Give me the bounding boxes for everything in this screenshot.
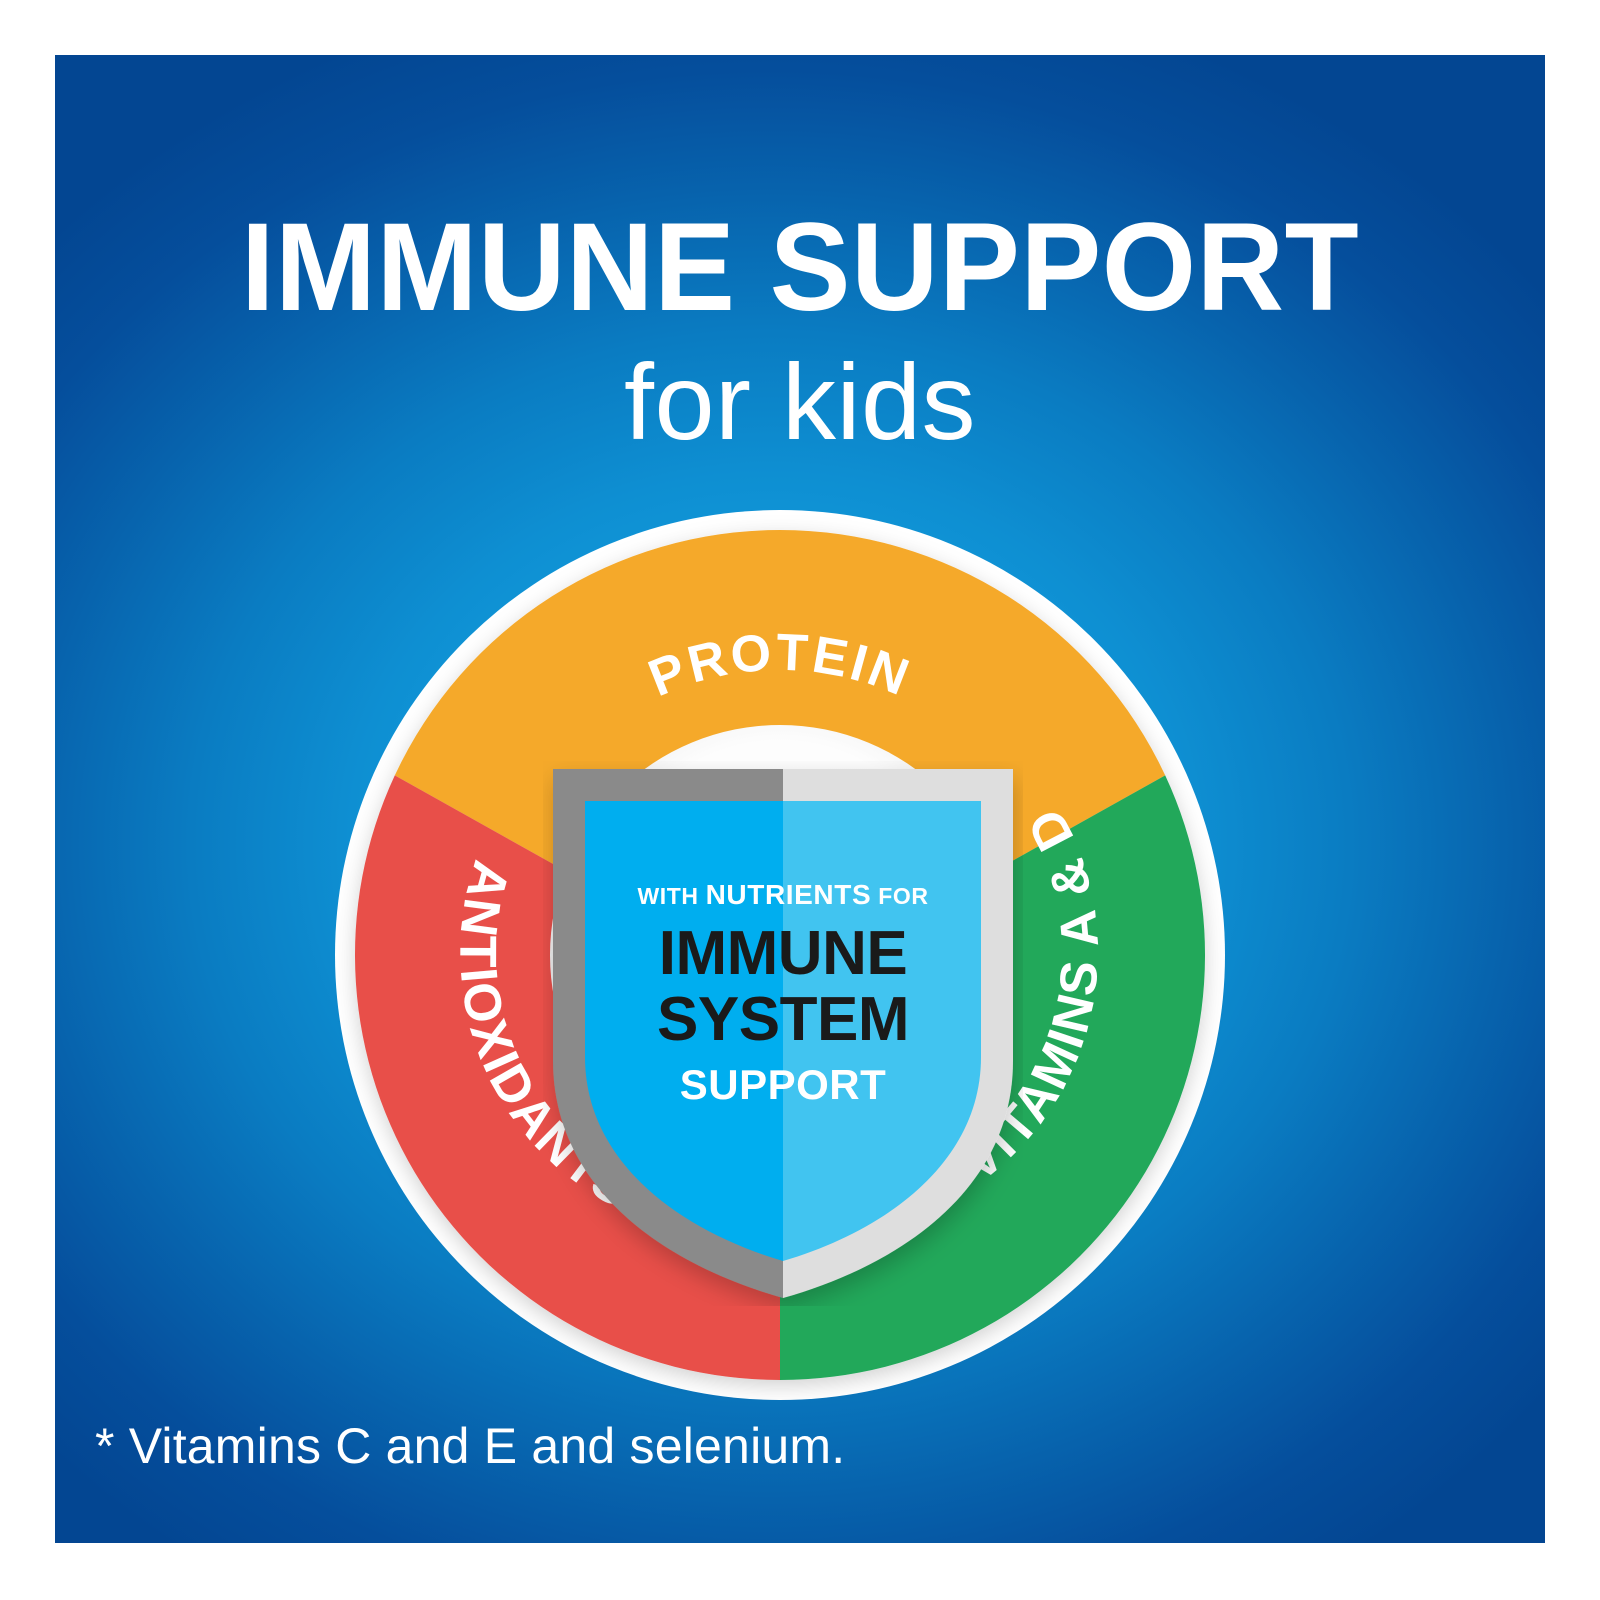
headline-block: IMMUNE SUPPORT for kids [55, 205, 1545, 465]
blue-panel-background: IMMUNE SUPPORT for kids [55, 55, 1545, 1543]
page-title: IMMUNE SUPPORT [77, 205, 1522, 330]
shield-svg [543, 761, 1023, 1306]
poster-root: IMMUNE SUPPORT for kids [0, 0, 1600, 1600]
footnote-text: * Vitamins C and E and selenium. [95, 1417, 845, 1475]
immune-shield-badge: WITH NUTRIENTS FOR IMMUNE SYSTEM SUPPORT [543, 761, 1023, 1306]
page-subtitle: for kids [55, 338, 1545, 465]
